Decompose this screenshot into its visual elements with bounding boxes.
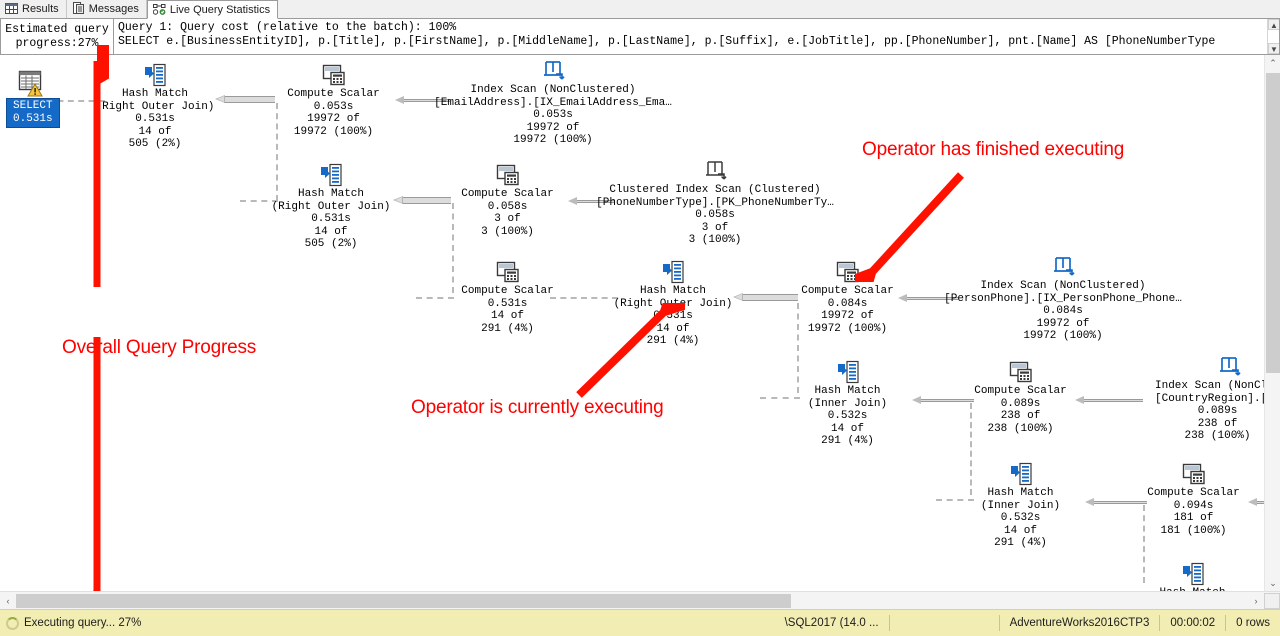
- estimated-progress-value: progress:27%: [16, 37, 99, 51]
- clustered-index-scan-icon: [703, 159, 727, 183]
- execution-plan-canvas[interactable]: SELECT 0.531s Hash Match (Right Outer Jo…: [0, 55, 1280, 591]
- scroll-right-icon[interactable]: ›: [1248, 593, 1264, 609]
- compute-scalar-3-rows-actual: 14 of: [450, 310, 565, 323]
- header-scrollbar[interactable]: ▲ ▼: [1267, 19, 1279, 54]
- live-query-statistics-pane: Results Messages Live Query Statistics: [0, 0, 1280, 636]
- clustered-index-scan-phonetype-rows-estimated: 3 (100%): [570, 234, 860, 247]
- scroll-left-icon[interactable]: ‹: [0, 593, 16, 609]
- scroll-up-icon[interactable]: ⌃: [1265, 55, 1280, 71]
- status-row-count: 0 rows: [1225, 615, 1280, 631]
- index-scan-email-title: Index Scan (NonClustered): [408, 84, 698, 97]
- plan-node-compute-scalar-3[interactable]: Compute Scalar 0.531s 14 of 291 (4%): [450, 260, 565, 335]
- hash-match-2-time: 0.531s: [260, 213, 402, 226]
- results-tabstrip: Results Messages Live Query Statistics: [0, 0, 1280, 19]
- hash-match-5-rows-actual: 14 of: [953, 525, 1088, 538]
- compute-scalar-6-rows-actual: 181 of: [1136, 512, 1251, 525]
- plan-node-index-scan-countryregion[interactable]: Index Scan (NonClu [CountryRegion].[AK_C…: [1155, 355, 1280, 443]
- status-bar: Executing query... 27% \SQL2017 (14.0 ..…: [0, 609, 1280, 636]
- index-scan-countryregion-time: 0.089s: [1155, 405, 1280, 418]
- compute-scalar-1-time: 0.053s: [276, 101, 391, 114]
- tab-live-query-statistics[interactable]: Live Query Statistics: [147, 0, 278, 19]
- hash-match-4-time: 0.532s: [780, 410, 915, 423]
- compute-scalar-3-rows-estimated: 291 (4%): [450, 323, 565, 336]
- compute-scalar-icon: [1009, 360, 1033, 384]
- tab-results-label: Results: [22, 3, 59, 15]
- compute-scalar-5-title: Compute Scalar: [963, 385, 1078, 398]
- hash-match-icon: [1181, 562, 1205, 586]
- index-scan-countryregion-title: Index Scan (NonClu: [1155, 380, 1265, 393]
- annotation-arrow-finished: [855, 167, 975, 282]
- compute-scalar-icon: [496, 163, 520, 187]
- compute-scalar-2-time: 0.058s: [450, 201, 565, 214]
- grid-icon: [5, 2, 18, 15]
- index-scan-countryregion-subtitle: [CountryRegion].[AK_Cou: [1155, 393, 1265, 406]
- select-node-name: SELECT: [13, 100, 53, 113]
- connector-arrow: [1075, 398, 1143, 403]
- compute-scalar-2-title: Compute Scalar: [450, 188, 565, 201]
- compute-scalar-6-rows-estimated: 181 (100%): [1136, 525, 1251, 538]
- plan-horizontal-scrollbar[interactable]: ‹ ›: [0, 591, 1280, 609]
- index-scan-countryregion-rows-actual: 238 of: [1155, 418, 1280, 431]
- plan-node-hash-match-4[interactable]: Hash Match (Inner Join) 0.532s 14 of 291…: [780, 360, 915, 448]
- compute-scalar-5-time: 0.089s: [963, 398, 1078, 411]
- hash-match-1-title: Hash Match: [84, 88, 226, 101]
- hash-match-1-rows-estimated: 505 (2%): [84, 138, 226, 151]
- plan-node-hash-match-6[interactable]: Hash Match: [1125, 562, 1260, 591]
- index-scan-personphone-time: 0.084s: [918, 305, 1208, 318]
- clustered-index-scan-phonetype-time: 0.058s: [570, 209, 860, 222]
- hash-match-5-subtitle: (Inner Join): [953, 500, 1088, 513]
- plan-node-compute-scalar-2[interactable]: Compute Scalar 0.058s 3 of 3 (100%): [450, 163, 565, 238]
- horizontal-scroll-track[interactable]: [16, 593, 1248, 609]
- hash-match-3-title: Hash Match: [602, 285, 744, 298]
- hash-match-2-subtitle: (Right Outer Join): [260, 201, 402, 214]
- header-scroll-down-icon[interactable]: ▼: [1268, 43, 1280, 54]
- hash-match-4-rows-actual: 14 of: [780, 423, 915, 436]
- compute-scalar-icon: [1182, 462, 1206, 486]
- compute-scalar-5-rows-actual: 238 of: [963, 410, 1078, 423]
- query-sql-line: SELECT e.[BusinessEntityID], p.[Title], …: [118, 35, 1275, 49]
- compute-scalar-4-rows-estimated: 19972 (100%): [790, 323, 905, 336]
- plan-node-index-scan-email[interactable]: Index Scan (NonClustered) [EmailAddress]…: [408, 59, 698, 147]
- hash-match-4-subtitle: (Inner Join): [780, 398, 915, 411]
- index-scan-personphone-rows-estimated: 19972 (100%): [918, 330, 1208, 343]
- compute-scalar-icon: [496, 260, 520, 284]
- header-scroll-up-icon[interactable]: ▲: [1268, 19, 1280, 30]
- plan-node-compute-scalar-5[interactable]: Compute Scalar 0.089s 238 of 238 (100%): [963, 360, 1078, 435]
- compute-scalar-1-rows-actual: 19972 of: [276, 113, 391, 126]
- tab-messages[interactable]: Messages: [67, 0, 147, 18]
- document-icon: [72, 2, 85, 15]
- index-scan-icon: [1051, 255, 1075, 279]
- estimated-query-progress: Estimated query progress:27%: [0, 19, 114, 55]
- status-executing-group: Executing query... 27%: [0, 617, 141, 630]
- select-node-badge: SELECT 0.531s: [6, 98, 60, 128]
- select-node-time: 0.531s: [13, 113, 53, 126]
- compute-scalar-3-time: 0.531s: [450, 298, 565, 311]
- hash-match-2-rows-estimated: 505 (2%): [260, 238, 402, 251]
- horizontal-scroll-thumb[interactable]: [16, 594, 791, 608]
- live-stats-icon: [153, 3, 166, 16]
- hash-match-1-subtitle: (Right Outer Join): [84, 101, 226, 114]
- query-text-box[interactable]: Query 1: Query cost (relative to the bat…: [114, 19, 1280, 55]
- index-scan-email-rows-estimated: 19972 (100%): [408, 134, 698, 147]
- hash-match-4-rows-estimated: 291 (4%): [780, 435, 915, 448]
- hash-match-2-rows-actual: 14 of: [260, 226, 402, 239]
- index-scan-countryregion-rows-estimated: 238 (100%): [1155, 430, 1280, 443]
- compute-scalar-1-rows-estimated: 19972 (100%): [276, 126, 391, 139]
- scroll-down-icon[interactable]: ⌄: [1265, 575, 1280, 591]
- compute-scalar-6-time: 0.094s: [1136, 500, 1251, 513]
- plan-node-hash-match-5[interactable]: Hash Match (Inner Join) 0.532s 14 of 291…: [953, 462, 1088, 550]
- index-scan-email-rows-actual: 19972 of: [408, 122, 698, 135]
- compute-scalar-3-title: Compute Scalar: [450, 285, 565, 298]
- hash-match-2-title: Hash Match: [260, 188, 402, 201]
- status-elapsed-time: 00:00:02: [1159, 615, 1225, 631]
- index-scan-email-time: 0.053s: [408, 109, 698, 122]
- annotation-arrow-executing: [565, 303, 685, 403]
- hash-match-icon: [1009, 462, 1033, 486]
- status-executing-text: Executing query... 27%: [24, 617, 141, 629]
- annotation-operator-finished: Operator has finished executing: [862, 139, 1124, 161]
- annotation-overall-query-progress: Overall Query Progress: [62, 337, 256, 359]
- vertical-scroll-thumb[interactable]: [1266, 73, 1280, 373]
- index-scan-icon: [1217, 355, 1241, 379]
- hash-match-icon: [661, 260, 685, 284]
- connector-dashed: [416, 297, 454, 299]
- hash-match-5-time: 0.532s: [953, 512, 1088, 525]
- compute-scalar-2-rows-actual: 3 of: [450, 213, 565, 226]
- status-user: [889, 615, 999, 631]
- hash-match-1-rows-actual: 14 of: [84, 126, 226, 139]
- plan-header: Estimated query progress:27% Query 1: Qu…: [0, 19, 1280, 55]
- hash-match-icon: [319, 163, 343, 187]
- spinner-icon: [6, 617, 19, 630]
- compute-scalar-icon: [322, 63, 346, 87]
- compute-scalar-4-time: 0.084s: [790, 298, 905, 311]
- tab-results[interactable]: Results: [0, 0, 67, 18]
- compute-scalar-4-rows-actual: 19972 of: [790, 310, 905, 323]
- hash-match-4-title: Hash Match: [780, 385, 915, 398]
- select-result-icon: [16, 68, 46, 98]
- resize-grip-icon[interactable]: [1264, 593, 1280, 609]
- compute-scalar-1-title: Compute Scalar: [276, 88, 391, 101]
- hash-match-icon: [143, 63, 167, 87]
- tab-live-query-statistics-label: Live Query Statistics: [170, 4, 270, 16]
- query-cost-line: Query 1: Query cost (relative to the bat…: [118, 21, 1275, 35]
- hash-match-5-rows-estimated: 291 (4%): [953, 537, 1088, 550]
- plan-node-compute-scalar-6[interactable]: Compute Scalar 0.094s 181 of 181 (100%): [1136, 462, 1251, 537]
- tab-messages-label: Messages: [89, 3, 139, 15]
- clustered-index-scan-phonetype-rows-actual: 3 of: [570, 222, 860, 235]
- index-scan-personphone-rows-actual: 19972 of: [918, 318, 1208, 331]
- hash-match-5-title: Hash Match: [953, 487, 1088, 500]
- index-scan-personphone-subtitle: [PersonPhone].[IX_PersonPhone_Phone…: [918, 293, 1208, 306]
- compute-scalar-2-rows-estimated: 3 (100%): [450, 226, 565, 239]
- clustered-index-scan-phonetype-subtitle: [PhoneNumberType].[PK_PhoneNumberTy…: [570, 197, 860, 210]
- plan-node-hash-match-1[interactable]: Hash Match (Right Outer Join) 0.531s 14 …: [84, 63, 226, 151]
- plan-node-hash-match-2[interactable]: Hash Match (Right Outer Join) 0.531s 14 …: [260, 163, 402, 251]
- compute-scalar-5-rows-estimated: 238 (100%): [963, 423, 1078, 436]
- plan-vertical-scrollbar[interactable]: ⌃ ⌄: [1264, 55, 1280, 591]
- hash-match-icon: [836, 360, 860, 384]
- plan-node-select[interactable]: SELECT 0.531s: [6, 68, 56, 128]
- hash-match-1-time: 0.531s: [84, 113, 226, 126]
- estimated-progress-label: Estimated query: [5, 23, 109, 37]
- compute-scalar-4-title: Compute Scalar: [790, 285, 905, 298]
- status-database: AdventureWorks2016CTP3: [999, 615, 1160, 631]
- clustered-index-scan-phonetype-title: Clustered Index Scan (Clustered): [570, 184, 860, 197]
- plan-node-compute-scalar-1[interactable]: Compute Scalar 0.053s 19972 of 19972 (10…: [276, 63, 391, 138]
- compute-scalar-6-title: Compute Scalar: [1136, 487, 1251, 500]
- index-scan-icon: [541, 59, 565, 83]
- status-server: \SQL2017 (14.0 ...: [775, 615, 889, 631]
- plan-node-clustered-index-scan-phonetype[interactable]: Clustered Index Scan (Clustered) [PhoneN…: [570, 159, 860, 247]
- index-scan-email-subtitle: [EmailAddress].[IX_EmailAddress_Ema…: [408, 97, 698, 110]
